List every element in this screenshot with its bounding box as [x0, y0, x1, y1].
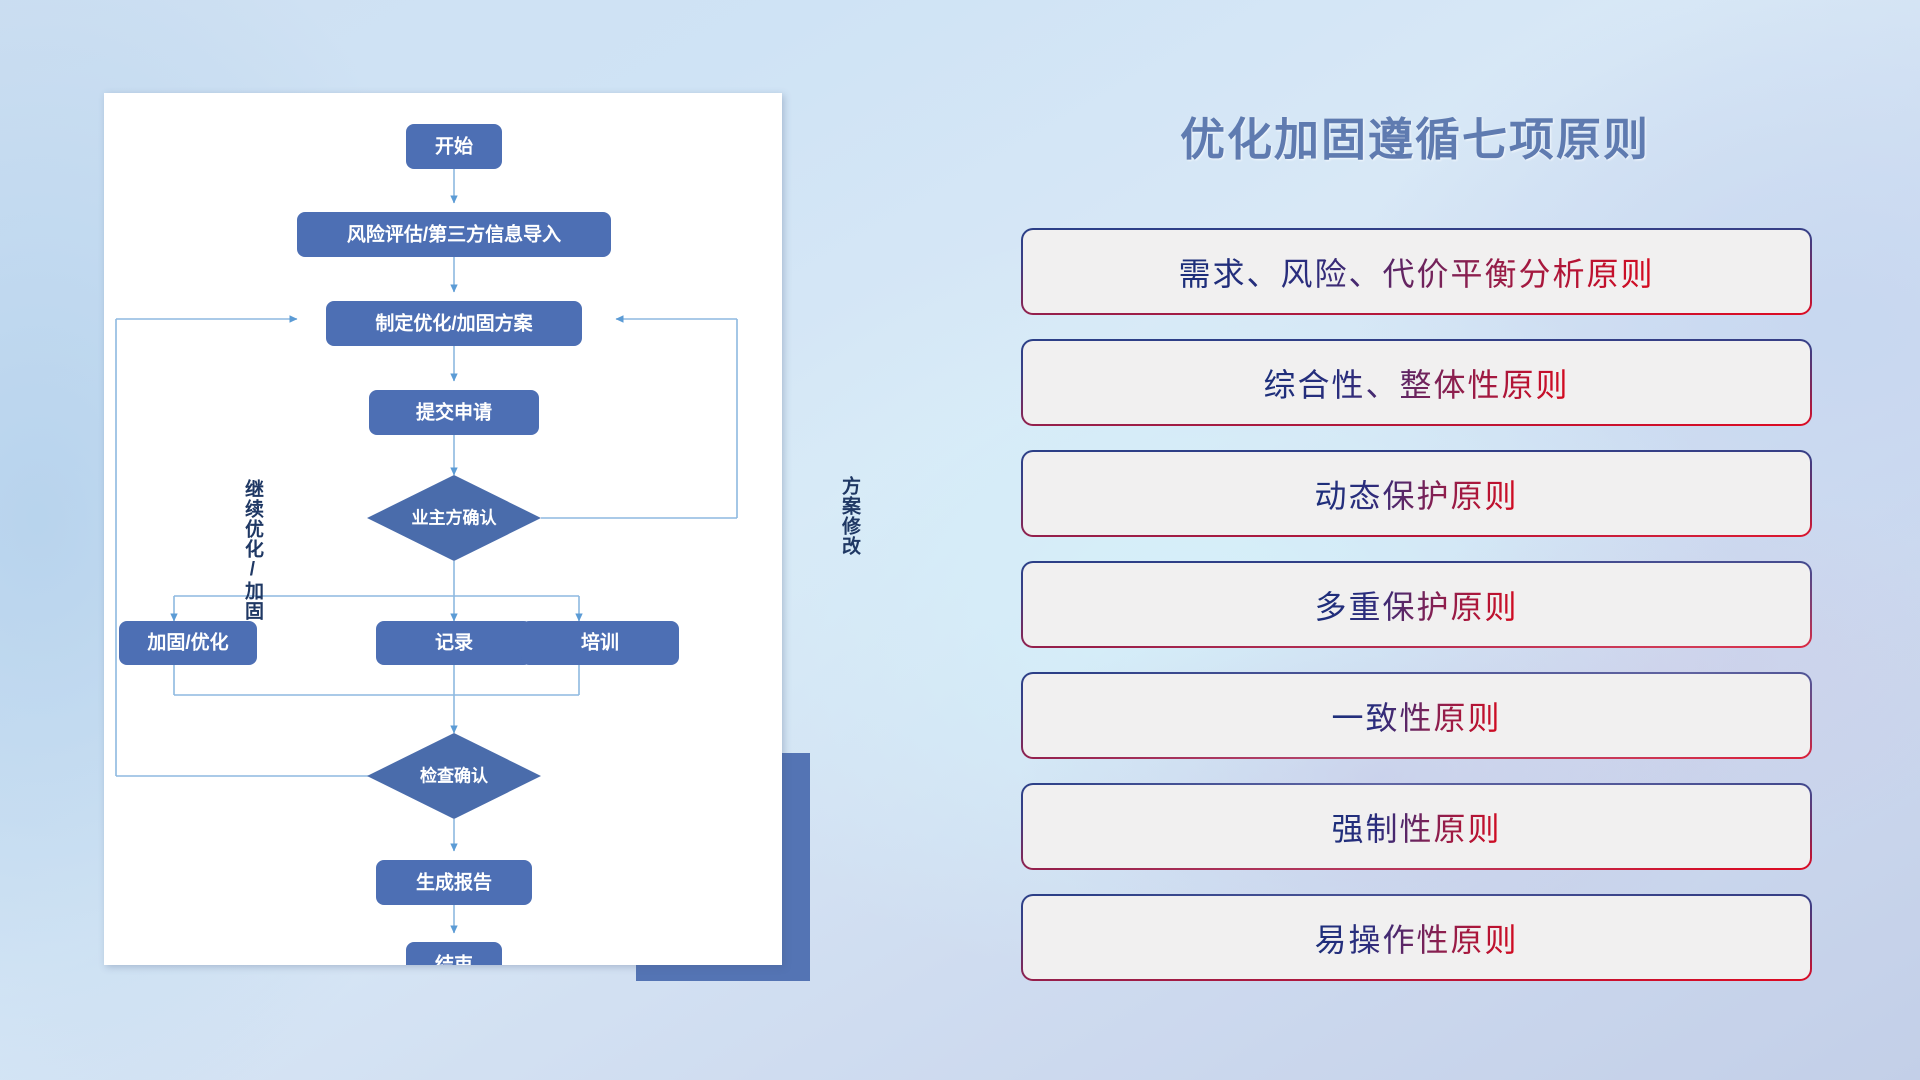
slide-canvas: 开始 风险评估/第三方信息导入 制定优化/加固方案 提交申请 业主方确认 加固/ [0, 0, 1920, 1080]
principle-item-2[interactable]: 综合性、整体性原则 [1023, 341, 1810, 424]
flow-node-risk-label: 风险评估/第三方信息导入 [347, 223, 561, 246]
flow-node-owner-confirm: 业主方确认 [367, 475, 541, 561]
flow-node-risk-assessment: 风险评估/第三方信息导入 [297, 212, 611, 257]
flow-node-submit-application: 提交申请 [369, 390, 539, 435]
principle-label-2: 综合性、整体性原则 [1263, 360, 1569, 406]
principle-item-5[interactable]: 一致性原则 [1023, 674, 1810, 757]
principle-item-1[interactable]: 需求、风险、代价平衡分析原则 [1023, 230, 1810, 313]
flowchart-diagram: 开始 风险评估/第三方信息导入 制定优化/加固方案 提交申请 业主方确认 加固/ [104, 93, 782, 965]
flow-edge-label-continue-loop: 继续优化/加固 [242, 479, 262, 621]
flow-node-end-label: 结束 [435, 953, 474, 966]
flow-node-training: 培训 [521, 621, 679, 665]
flow-node-end: 结束 [406, 942, 502, 965]
principle-label-7: 易操作性原则 [1314, 915, 1518, 961]
principle-label-4: 多重保护原则 [1314, 582, 1518, 628]
flow-node-reinforce: 加固/优化 [119, 621, 257, 665]
principle-label-6: 强制性原则 [1331, 804, 1501, 850]
flow-node-submit-label: 提交申请 [416, 401, 492, 424]
flow-node-check-confirm-label: 检查确认 [420, 766, 489, 786]
flowchart-card: 开始 风险评估/第三方信息导入 制定优化/加固方案 提交申请 业主方确认 加固/ [104, 93, 782, 965]
principle-label-1: 需求、风险、代价平衡分析原则 [1178, 249, 1654, 295]
principle-item-6[interactable]: 强制性原则 [1023, 785, 1810, 868]
principle-item-4[interactable]: 多重保护原则 [1023, 563, 1810, 646]
flow-node-start: 开始 [406, 124, 502, 169]
flow-node-owner-confirm-label: 业主方确认 [412, 508, 498, 528]
flow-node-training-label: 培训 [581, 631, 619, 654]
panel-title: 优化加固遵循七项原则 [1000, 103, 1830, 168]
flow-node-record-label: 记录 [435, 632, 473, 654]
flow-node-record: 记录 [376, 621, 532, 665]
flow-node-report-label: 生成报告 [416, 871, 492, 894]
principles-panel: 优化加固遵循七项原则 需求、风险、代价平衡分析原则 综合性、整体性原则 动态保护… [1000, 88, 1830, 1008]
principle-item-7[interactable]: 易操作性原则 [1023, 896, 1810, 979]
flow-node-make-plan: 制定优化/加固方案 [326, 301, 582, 346]
flow-node-reinforce-label: 加固/优化 [146, 631, 228, 654]
flow-node-check-confirm: 检查确认 [367, 733, 541, 819]
principles-list: 需求、风险、代价平衡分析原则 综合性、整体性原则 动态保护原则 多重保护原则 一… [1023, 230, 1810, 1007]
flow-node-start-label: 开始 [435, 135, 473, 158]
flow-node-plan-label: 制定优化/加固方案 [375, 312, 533, 335]
principle-label-5: 一致性原则 [1331, 693, 1501, 739]
flow-edge-label-revise-plan: 方案修改 [839, 476, 859, 556]
principle-label-3: 动态保护原则 [1314, 471, 1518, 517]
flow-node-generate-report: 生成报告 [376, 860, 532, 905]
principle-item-3[interactable]: 动态保护原则 [1023, 452, 1810, 535]
